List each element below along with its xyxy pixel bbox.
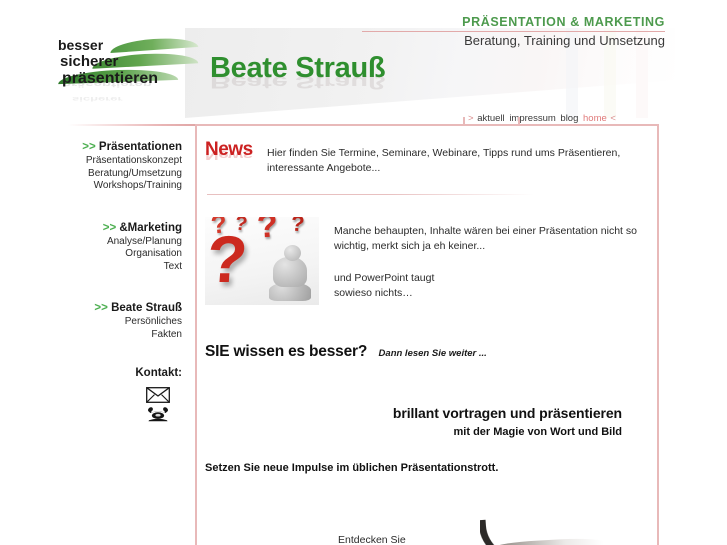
impulse-line: Setzen Sie neue Impulse im üblichen Präs… [205,462,651,474]
entdecken-line: Entdecken Sie [338,534,406,545]
logo-leaf-icon-1 [110,36,199,53]
sie-subheadline: Dann lesen Sie weiter ... [379,348,487,359]
tagline-primary: PRÄSENTATION & MARKETING [462,15,665,29]
question-para2-line1: und PowerPoint taugt [334,271,651,286]
chevron-double-right-icon: >> [103,222,116,234]
kontakt-label: Kontakt: [0,367,182,379]
question-para2-line2: sowieso nichts… [334,286,651,301]
frame-line-left-top [68,124,196,126]
tagline-secondary: Beratung, Training und Umsetzung [464,33,665,48]
brilliant-subline: mit der Magie von Wort und Bild [205,426,622,438]
news-title-wrap: News News [205,140,267,181]
tagline-divider [362,31,665,32]
frame-line-vertical-left [195,124,197,545]
question-text: Manche behaupten, Inhalte wären bei eine… [319,217,651,301]
news-text: Hier finden Sie Termine, Seminare, Webin… [267,140,651,176]
question-mark-small-3: ? [256,217,279,247]
nav-item-impressum[interactable]: impressum [509,113,555,124]
news-block: News News Hier finden Sie Termine, Semin… [205,140,651,181]
sidebar-heading-label: Beate Strauß [111,302,182,314]
sidebar-subitem-text[interactable]: Text [0,261,182,274]
frame-line-vertical-right [657,124,659,545]
question-mark-small-4: ? [290,217,306,238]
question-para1-line2: wichtig, merkt sich ja eh keiner... [334,239,651,254]
site-logo[interactable]: besser sicherer präsentieren präsentiere… [48,37,198,109]
logo-reflection-1: präsentieren [62,79,152,89]
sidebar-heading-label: &Marketing [119,222,182,234]
telephone-icon[interactable] [146,405,170,422]
sidebar-subitem-organisation[interactable]: Organisation [0,248,182,261]
nav-open-bracket: > [468,113,474,124]
frame-line-nav-right-tick [518,117,520,126]
news-text-line-1: Hier finden Sie Termine, Seminare, Webin… [267,146,651,161]
logo-line-2: sicherer [60,53,118,70]
question-block: ? ? ? ? ? Manche behaupten, Inhalte wäre… [205,217,651,305]
nav-item-aktuell[interactable]: aktuell [477,113,504,124]
sidebar-group-beate-strauss: >> Beate Strauß Persönliches Fakten [0,301,182,341]
thinking-figure-icon [267,245,313,303]
nav-item-home[interactable]: home [583,113,607,124]
site-header: PRÄSENTATION & MARKETING Beratung, Train… [0,0,727,125]
sidebar-group-marketing: >> &Marketing Analyse/Planung Organisati… [0,221,182,274]
sie-headline-row: SIE wissen es besser? Dann lesen Sie wei… [205,343,651,361]
brilliant-block: brillant vortragen und präsentieren mit … [205,405,651,438]
question-mark-large: ? [205,221,250,297]
envelope-icon[interactable] [146,387,170,403]
top-navigation[interactable]: > aktuell impressum blog home < [468,113,616,124]
sidebar-subitem-praesentationskonzept[interactable]: Präsentationskonzept [0,155,182,168]
news-title-reflection: News [205,147,267,161]
nav-item-blog[interactable]: blog [560,113,578,124]
sidebar-subitem-persoenliches[interactable]: Persönliches [0,316,182,329]
kontakt-icon-group [0,387,182,422]
logo-line-1: besser [58,37,103,53]
question-marks-image: ? ? ? ? ? [205,217,319,305]
sidebar-subitem-workshops-training[interactable]: Workshops/Training [0,180,182,193]
fountain-pen-image [480,516,620,545]
chevron-double-right-icon: >> [94,302,107,314]
sidebar: >> Präsentationen Präsentationskonzept B… [0,140,188,424]
frame-line-right-top [520,124,659,126]
sie-headline: SIE wissen es besser? [205,343,367,360]
page-root: PRÄSENTATION & MARKETING Beratung, Train… [0,0,727,545]
chevron-double-right-icon: >> [82,141,95,153]
logo-reflection-2: sicherer [72,96,123,104]
news-divider [207,194,534,195]
paragraph-gap [334,254,651,271]
sidebar-item-beate-strauss[interactable]: >> Beate Strauß [0,301,182,316]
sidebar-group-praesentationen: >> Präsentationen Präsentationskonzept B… [0,140,182,193]
brand-title-reflection: Beate Strauß [210,72,385,92]
sidebar-subitem-analyse-planung[interactable]: Analyse/Planung [0,236,182,249]
sidebar-subitem-beratung-umsetzung[interactable]: Beratung/Umsetzung [0,168,182,181]
news-text-line-2: interessante Angebote... [267,161,651,176]
sidebar-heading-label: Präsentationen [99,141,182,153]
brilliant-headline: brillant vortragen und präsentieren [205,405,622,421]
question-para1-line1: Manche behaupten, Inhalte wären bei eine… [334,224,651,239]
sidebar-item-marketing[interactable]: >> &Marketing [0,221,182,236]
nav-close-bracket: < [610,113,616,124]
sidebar-subitem-fakten[interactable]: Fakten [0,329,182,342]
main-content: News News Hier finden Sie Termine, Semin… [205,140,651,474]
frame-line-nav-left-tick [463,117,465,126]
frame-line-nav-under [463,124,520,126]
sidebar-item-praesentationen[interactable]: >> Präsentationen [0,140,182,155]
